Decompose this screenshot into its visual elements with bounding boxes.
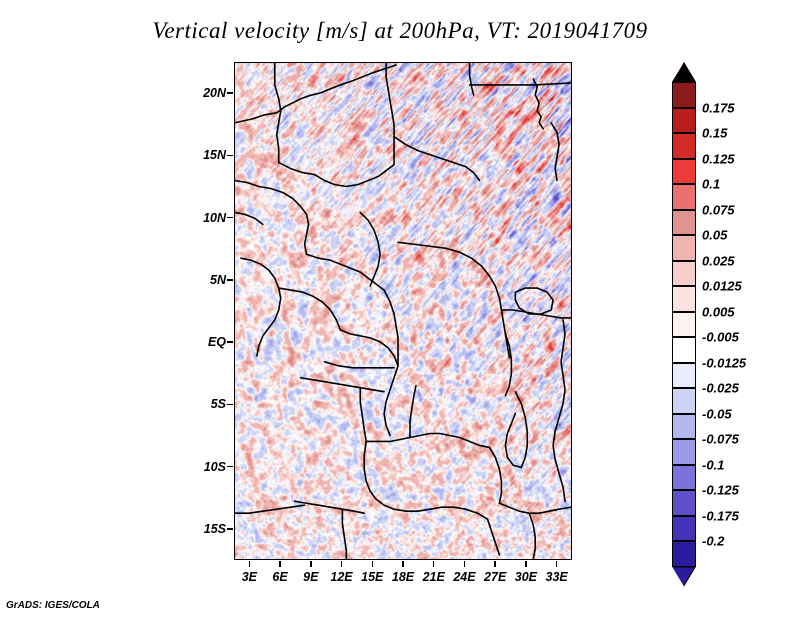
y-axis-label: 15N bbox=[182, 148, 226, 162]
x-axis-label: 27E bbox=[484, 570, 506, 584]
colorbar-tick-label: 0.15 bbox=[702, 126, 727, 141]
map-plot-area bbox=[234, 62, 572, 560]
colorbar-swatch[interactable] bbox=[672, 82, 696, 108]
colorbar-swatch[interactable] bbox=[672, 312, 696, 338]
colorbar-swatch[interactable] bbox=[672, 414, 696, 440]
colorbar-swatch[interactable] bbox=[672, 541, 696, 567]
colorbar-tick-label: 0.075 bbox=[702, 202, 735, 217]
colorbar-swatch[interactable] bbox=[672, 388, 696, 414]
colorbar-tick-label: -0.025 bbox=[702, 381, 739, 396]
colorbar-swatch[interactable] bbox=[672, 184, 696, 210]
y-axis-label: 15S bbox=[182, 522, 226, 536]
x-axis-tick bbox=[372, 561, 374, 567]
colorbar-swatch[interactable] bbox=[672, 465, 696, 491]
x-axis-tick bbox=[464, 561, 466, 567]
x-axis-label: 21E bbox=[423, 570, 445, 584]
colorbar-swatch[interactable] bbox=[672, 159, 696, 185]
colorbar-swatch[interactable] bbox=[672, 261, 696, 287]
colorbar-swatch[interactable] bbox=[672, 363, 696, 389]
colorbar-swatch[interactable] bbox=[672, 490, 696, 516]
colorbar-tick-label: -0.1 bbox=[702, 457, 724, 472]
colorbar-tick-label: 0.0125 bbox=[702, 279, 742, 294]
y-axis-tick bbox=[227, 528, 233, 530]
colorbar-swatch[interactable] bbox=[672, 286, 696, 312]
colorbar-swatch[interactable] bbox=[672, 516, 696, 542]
y-axis-label: EQ bbox=[182, 335, 226, 349]
x-axis-label: 18E bbox=[392, 570, 414, 584]
x-axis-tick bbox=[556, 561, 558, 567]
x-axis-tick bbox=[310, 561, 312, 567]
colorbar-tick-label: 0.05 bbox=[702, 228, 727, 243]
x-axis-tick bbox=[249, 561, 251, 567]
x-axis-tick bbox=[433, 561, 435, 567]
colorbar-tick-label: 0.175 bbox=[702, 100, 735, 115]
y-axis-label: 10S bbox=[182, 460, 226, 474]
y-axis-tick bbox=[227, 155, 233, 157]
x-axis-label: 24E bbox=[453, 570, 475, 584]
y-axis-label: 20N bbox=[182, 86, 226, 100]
country-borders-overlay bbox=[235, 63, 571, 559]
colorbar[interactable] bbox=[672, 62, 696, 552]
y-axis-tick bbox=[227, 279, 233, 281]
colorbar-tick-label: -0.0125 bbox=[702, 355, 746, 370]
y-axis-label: 10N bbox=[182, 211, 226, 225]
y-axis-tick bbox=[227, 341, 233, 343]
x-axis-tick bbox=[402, 561, 404, 567]
y-axis-tick bbox=[227, 466, 233, 468]
y-axis-label: 5N bbox=[182, 273, 226, 287]
x-axis-tick bbox=[525, 561, 527, 567]
colorbar-tick-label: 0.005 bbox=[702, 304, 735, 319]
page-title: Vertical velocity [m/s] at 200hPa, VT: 2… bbox=[0, 18, 800, 44]
colorbar-swatch[interactable] bbox=[672, 108, 696, 134]
colorbar-tick-label: -0.05 bbox=[702, 406, 732, 421]
y-axis-label: 5S bbox=[182, 397, 226, 411]
x-axis-label: 9E bbox=[303, 570, 318, 584]
x-axis-tick bbox=[341, 561, 343, 567]
x-axis-label: 33E bbox=[546, 570, 568, 584]
colorbar-swatch[interactable] bbox=[672, 337, 696, 363]
x-axis-label: 6E bbox=[272, 570, 287, 584]
y-axis-tick bbox=[227, 217, 233, 219]
colorbar-tick-label: -0.125 bbox=[702, 483, 739, 498]
colorbar-tick-label: -0.175 bbox=[702, 508, 739, 523]
colorbar-swatch[interactable] bbox=[672, 439, 696, 465]
colorbar-swatch[interactable] bbox=[672, 235, 696, 261]
x-axis-label: 12E bbox=[330, 570, 352, 584]
y-axis-tick bbox=[227, 404, 233, 406]
grads-attribution: GrADS: IGES/COLA bbox=[6, 600, 100, 611]
colorbar-tick-label: -0.075 bbox=[702, 432, 739, 447]
colorbar-tick-label: -0.2 bbox=[702, 534, 724, 549]
x-axis-tick bbox=[279, 561, 281, 567]
colorbar-tick-label: 0.125 bbox=[702, 151, 735, 166]
colorbar-max-arrow-outline bbox=[672, 62, 696, 82]
colorbar-min-arrow bbox=[672, 567, 696, 587]
x-axis-label: 15E bbox=[361, 570, 383, 584]
x-axis-tick bbox=[494, 561, 496, 567]
colorbar-swatch[interactable] bbox=[672, 210, 696, 236]
colorbar-swatch[interactable] bbox=[672, 133, 696, 159]
x-axis-label: 30E bbox=[515, 570, 537, 584]
x-axis-label: 3E bbox=[242, 570, 257, 584]
colorbar-tick-label: 0.025 bbox=[702, 253, 735, 268]
colorbar-tick-label: -0.005 bbox=[702, 330, 739, 345]
colorbar-tick-label: 0.1 bbox=[702, 177, 720, 192]
y-axis-tick bbox=[227, 92, 233, 94]
